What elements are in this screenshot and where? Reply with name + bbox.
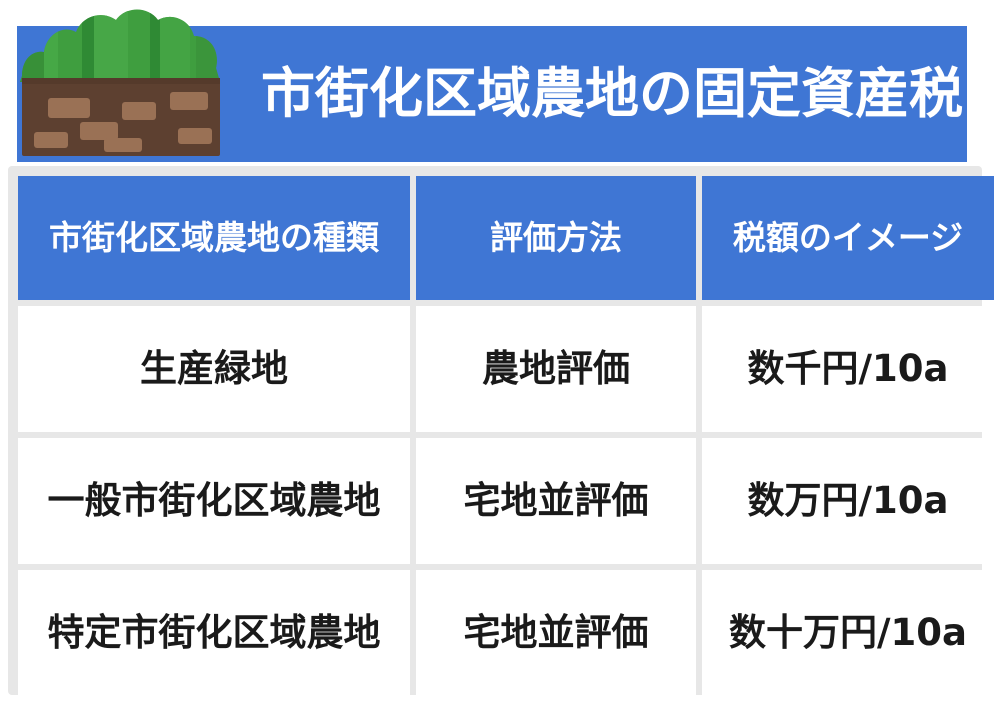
cell-amount: 数千円/10a	[702, 306, 994, 432]
column-header-method: 評価方法	[416, 176, 696, 300]
table-row: 一般市街化区域農地 宅地並評価 数万円/10a	[18, 438, 994, 564]
table-row: 生産緑地 農地評価 数千円/10a	[18, 306, 994, 432]
cell-amount: 数万円/10a	[702, 438, 994, 564]
cell-method: 農地評価	[416, 306, 696, 432]
cell-type: 特定市街化区域農地	[18, 570, 410, 696]
page-title: 市街化区域農地の固定資産税	[262, 26, 962, 162]
table-row: 特定市街化区域農地 宅地並評価 数十万円/10a	[18, 570, 994, 696]
cell-type: 一般市街化区域農地	[18, 438, 410, 564]
cell-type: 生産緑地	[18, 306, 410, 432]
column-header-amount: 税額のイメージ	[702, 176, 994, 300]
table-body: 生産緑地 農地評価 数千円/10a 一般市街化区域農地 宅地並評価 数万円/10…	[18, 306, 994, 696]
column-header-type: 市街化区域農地の種類	[18, 176, 410, 300]
tax-table-container: 市街化区域農地の種類 評価方法 税額のイメージ 生産緑地 農地評価 数千円/10…	[8, 166, 982, 695]
cell-amount: 数十万円/10a	[702, 570, 994, 696]
page-root: 市街化区域農地の固定資産税	[0, 0, 1000, 719]
cell-method: 宅地並評価	[416, 570, 696, 696]
tax-table: 市街化区域農地の種類 評価方法 税額のイメージ 生産緑地 農地評価 数千円/10…	[12, 170, 1000, 702]
farmland-soil-cross-section-illustration	[18, 2, 226, 158]
soil-layer	[22, 78, 220, 156]
table-header-row: 市街化区域農地の種類 評価方法 税額のイメージ	[18, 176, 994, 300]
table-head: 市街化区域農地の種類 評価方法 税額のイメージ	[18, 176, 994, 300]
cell-method: 宅地並評価	[416, 438, 696, 564]
